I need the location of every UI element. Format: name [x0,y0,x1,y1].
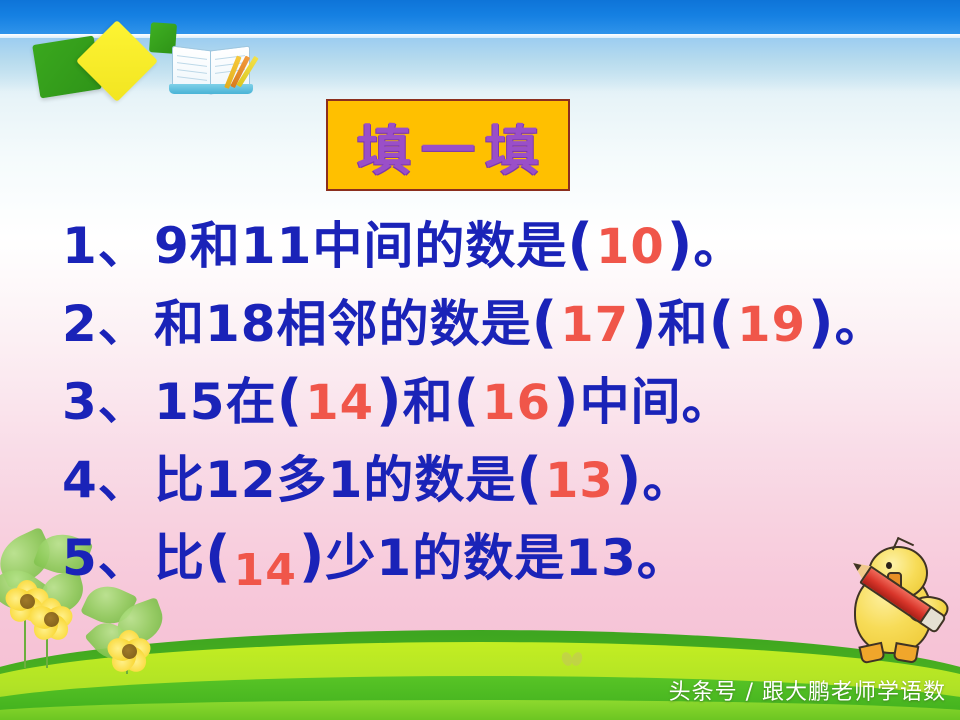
answer-paren: ) [616,446,643,511]
answer-value[interactable]: 10 [594,219,667,275]
answer-paren: ) [299,524,326,589]
question-text: 和 [658,284,709,356]
chick-foot-left [858,642,885,665]
answer-paren: ) [631,290,658,355]
slide-canvas: 填一填 1、9和11中间的数是(10)。2、和18相邻的数是(17)和(19)。… [0,0,960,720]
answer-paren: ) [553,368,580,433]
answer-value[interactable]: 19 [735,297,808,353]
butterfly-icon [562,652,584,670]
question-text: 比 [154,518,205,590]
question-number: 4、 [62,440,154,512]
question-line: 5、比(14)少1的数是13。 [62,518,922,596]
question-list: 1、9和11中间的数是(10)。2、和18相邻的数是(17)和(19)。3、15… [62,206,922,596]
question-text: 和 [403,362,454,434]
answer-paren: ( [277,368,304,433]
flower-icon [106,628,146,668]
question-line: 2、和18相邻的数是(17)和(19)。 [62,284,922,362]
question-number: 1、 [62,206,154,278]
answer-value[interactable]: 17 [558,297,631,353]
answer-value[interactable]: 13 [543,453,616,509]
title-box: 填一填 [326,99,570,191]
answer-paren: ( [567,212,594,277]
answer-paren: ) [667,212,694,277]
question-text: 和18相邻的数是 [154,284,532,356]
page-title: 填一填 [347,106,549,185]
question-number: 5、 [62,518,154,590]
question-text: 9和11中间的数是 [154,206,567,278]
answer-paren: ) [376,368,403,433]
answer-paren: ( [516,446,543,511]
answer-paren: ) [808,290,835,355]
watermark-text: 头条号 / 跟大鹏老师学语数 [669,674,946,706]
question-number: 3、 [62,362,154,434]
books-and-pencils-icon [22,18,262,110]
question-text: 比12多1的数是 [154,440,516,512]
question-text: 中间。 [580,362,733,434]
answer-paren: ( [709,290,736,355]
question-text: 少1的数是13。 [325,518,687,590]
question-line: 3、15在(14)和(16)中间。 [62,362,922,440]
chick-foot-right [893,642,920,664]
open-book-icon [172,44,250,94]
question-number: 2、 [62,284,154,356]
question-line: 4、比12多1的数是(13)。 [62,440,922,518]
question-text: 。 [835,284,886,356]
answer-value[interactable]: 14 [303,375,376,431]
answer-paren: ( [454,368,481,433]
answer-value[interactable]: 16 [480,375,553,431]
answer-paren: ( [532,290,559,355]
flower-icon [28,596,74,642]
question-text: 15在 [154,362,277,434]
answer-paren: ( [205,524,232,589]
question-text: 。 [693,206,744,278]
question-line: 1、9和11中间的数是(10)。 [62,206,922,284]
question-text: 。 [642,440,693,512]
answer-value[interactable]: 14 [232,545,299,596]
